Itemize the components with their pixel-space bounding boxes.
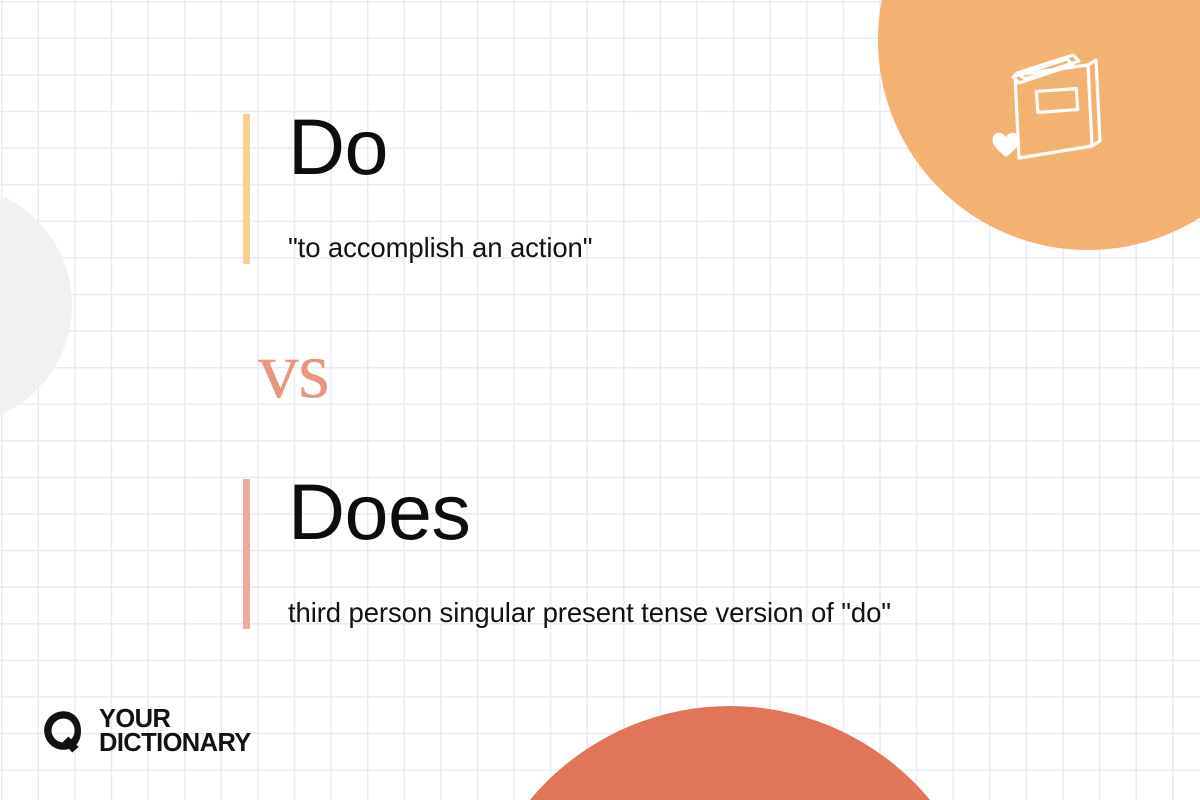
term-do: Do bbox=[288, 108, 592, 185]
heart-icon bbox=[991, 131, 1021, 159]
definition-does: third person singular present tense vers… bbox=[288, 597, 891, 629]
entry-body-do: Do "to accomplish an action" bbox=[250, 114, 592, 264]
accent-bar-do bbox=[243, 114, 250, 264]
definition-do: "to accomplish an action" bbox=[288, 232, 592, 264]
comparison-entry-do: Do "to accomplish an action" bbox=[243, 114, 592, 264]
comparison-entry-does: Does third person singular present tense… bbox=[243, 479, 891, 629]
entry-body-does: Does third person singular present tense… bbox=[250, 479, 891, 629]
yourdictionary-logo[interactable]: YOUR DICTIONARY bbox=[42, 708, 251, 755]
accent-bar-does bbox=[243, 479, 250, 629]
term-does: Does bbox=[288, 473, 891, 550]
logo-line-dictionary: DICTIONARY bbox=[99, 732, 251, 756]
versus-separator: vs bbox=[258, 329, 329, 411]
yourdictionary-q-mark-icon bbox=[42, 709, 86, 755]
logo-wordmark: YOUR DICTIONARY bbox=[99, 708, 251, 755]
infographic-canvas: Do "to accomplish an action" vs Does thi… bbox=[0, 0, 1200, 800]
